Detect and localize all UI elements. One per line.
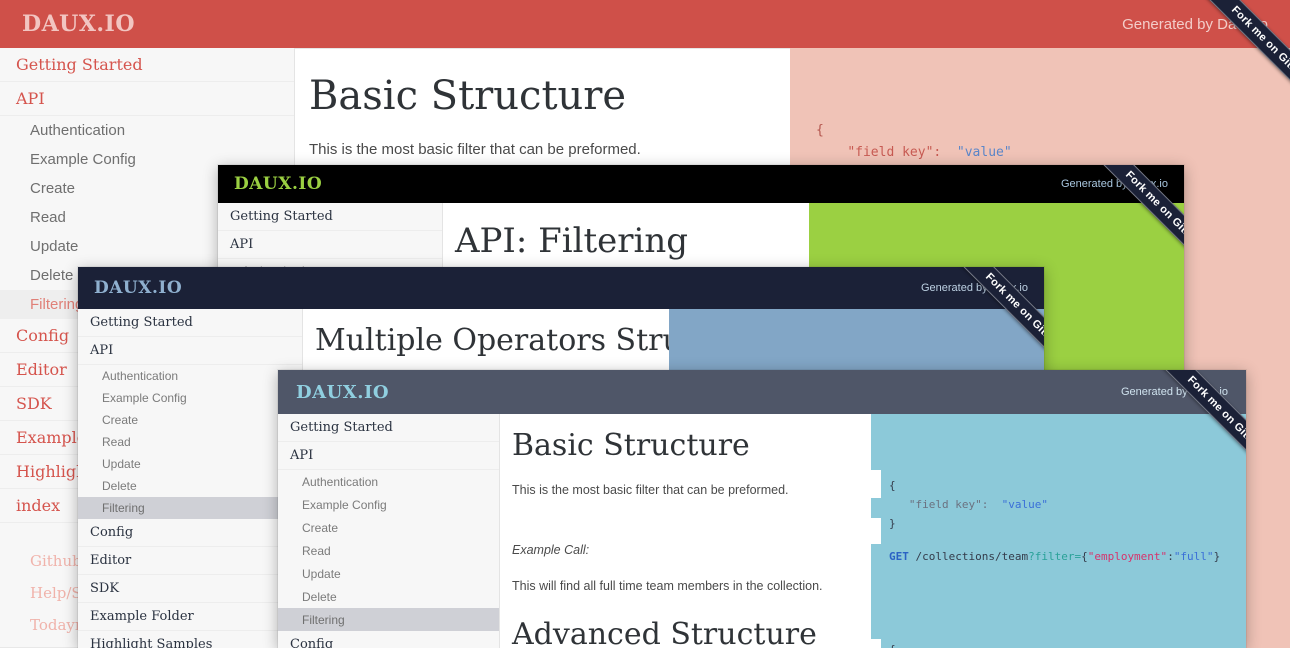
brand-logo[interactable]: DAUX.IO (234, 174, 322, 194)
page-title: Basic Structure (500, 414, 871, 463)
window4-sidebar[interactable]: Getting Started API Authentication Examp… (278, 414, 500, 648)
sidebar-item-example-config[interactable]: Example Config (78, 387, 302, 409)
code-brace-open: { (889, 479, 896, 492)
sidebar-item-filtering[interactable]: Filtering (278, 608, 499, 631)
generated-by-label: Generated by Daux.io (1061, 178, 1168, 190)
code-query-param: ?filter= (1028, 550, 1081, 563)
code-field-key: "field key": (909, 498, 988, 511)
sidebar-item-update[interactable]: Update (278, 562, 499, 585)
sidebar-item-getting-started[interactable]: Getting Started (278, 414, 499, 442)
code-tab-stub-3 (871, 639, 881, 648)
sidebar-item-getting-started[interactable]: Getting Started (0, 48, 294, 82)
sidebar-item-getting-started[interactable]: Getting Started (78, 309, 302, 337)
sidebar-item-config[interactable]: Config (278, 631, 499, 648)
sidebar-item-delete[interactable]: Delete (78, 475, 302, 497)
sidebar-item-create[interactable]: Create (78, 409, 302, 431)
sidebar-item-api[interactable]: API (218, 231, 442, 259)
brand-logo[interactable]: DAUX.IO (22, 11, 135, 37)
code-filter-brace-close: } (1214, 550, 1221, 563)
sidebar-item-highlight-samples[interactable]: Highlight Samples (78, 631, 302, 648)
window3-header: DAUX.IO Generated by Daux.io (78, 267, 1044, 309)
sidebar-item-authentication[interactable]: Authentication (278, 470, 499, 493)
window4-header: DAUX.IO Generated by Daux.io (278, 370, 1246, 414)
sidebar-item-update[interactable]: Update (78, 453, 302, 475)
window2-header: DAUX.IO Generated by Daux.io (218, 165, 1184, 203)
window4-body: Getting Started API Authentication Examp… (278, 414, 1246, 648)
code-tab-stub-1 (871, 470, 881, 498)
code-advanced-brace-open: { (889, 643, 896, 648)
sidebar-item-delete[interactable]: Delete (278, 585, 499, 608)
code-filter-brace-open: { (1081, 550, 1088, 563)
window1-header: DAUX.IO Generated by Daux.io (0, 0, 1290, 48)
code-filter-value: "full" (1174, 550, 1214, 563)
sidebar-item-filtering[interactable]: Filtering (78, 497, 302, 519)
generated-by-label: Generated by Daux.io (1121, 386, 1228, 398)
code-http-path: /collections/team (916, 550, 1029, 563)
code-filter-key: "employment" (1088, 550, 1167, 563)
window4-code-panel: { "field key": "value" } GET /collection… (871, 414, 1246, 648)
sidebar-item-config[interactable]: Config (78, 519, 302, 547)
code-field-value: "value" (957, 145, 1012, 160)
code-filter-colon: : (1167, 550, 1174, 563)
code-brace-open: { (816, 123, 824, 138)
page-title: Multiple Operators Structure (303, 309, 669, 358)
generated-by-label: Generated by Daux.io (921, 282, 1028, 294)
sidebar-item-authentication[interactable]: Authentication (0, 116, 294, 145)
example-call-label: Example Call: (500, 497, 871, 557)
sidebar-item-create[interactable]: Create (278, 516, 499, 539)
code-sample-advanced: { (871, 566, 1246, 648)
intro-paragraph: This is the most basic filter that can b… (500, 463, 871, 497)
sidebar-item-example-config[interactable]: Example Config (278, 493, 499, 516)
sidebar-item-authentication[interactable]: Authentication (78, 365, 302, 387)
browser-window-slate-cyan[interactable]: DAUX.IO Generated by Daux.io Getting Sta… (278, 370, 1246, 648)
code-field-value: "value" (1002, 498, 1048, 511)
sidebar-item-api[interactable]: API (78, 337, 302, 365)
sidebar-item-api[interactable]: API (0, 82, 294, 116)
brand-logo[interactable]: DAUX.IO (94, 278, 182, 298)
code-sample-json: { "field key": "value" } (871, 414, 1246, 533)
code-tab-stub-2 (871, 518, 881, 544)
sidebar-item-getting-started[interactable]: Getting Started (218, 203, 442, 231)
intro-paragraph: This is the most basic filter that can b… (295, 119, 790, 158)
screenshot-stage: DAUX.IO Generated by Daux.io Getting Sta… (0, 0, 1290, 648)
sidebar-item-editor[interactable]: Editor (78, 547, 302, 575)
brand-logo[interactable]: DAUX.IO (296, 382, 389, 403)
code-brace-close: } (889, 517, 896, 530)
sidebar-item-read[interactable]: Read (278, 539, 499, 562)
sidebar-item-sdk[interactable]: SDK (78, 575, 302, 603)
code-http-verb: GET (889, 550, 909, 563)
window3-sidebar[interactable]: Getting Started API Authentication Examp… (78, 309, 303, 648)
result-paragraph: This will find all full time team member… (500, 557, 871, 593)
sidebar-item-api[interactable]: API (278, 442, 499, 470)
page-title: Basic Structure (295, 49, 790, 119)
code-field-key: "field key": (847, 145, 941, 160)
sidebar-item-example-folder[interactable]: Example Folder (78, 603, 302, 631)
window4-content: Basic Structure This is the most basic f… (500, 414, 871, 648)
page-subtitle-advanced: Advanced Structure (500, 593, 871, 648)
sidebar-item-read[interactable]: Read (78, 431, 302, 453)
generated-by-label: Generated by Daux.io (1122, 16, 1268, 33)
page-title: API: Filtering (443, 203, 809, 261)
code-sample-request: GET /collections/team?filter={"employmen… (871, 533, 1246, 566)
